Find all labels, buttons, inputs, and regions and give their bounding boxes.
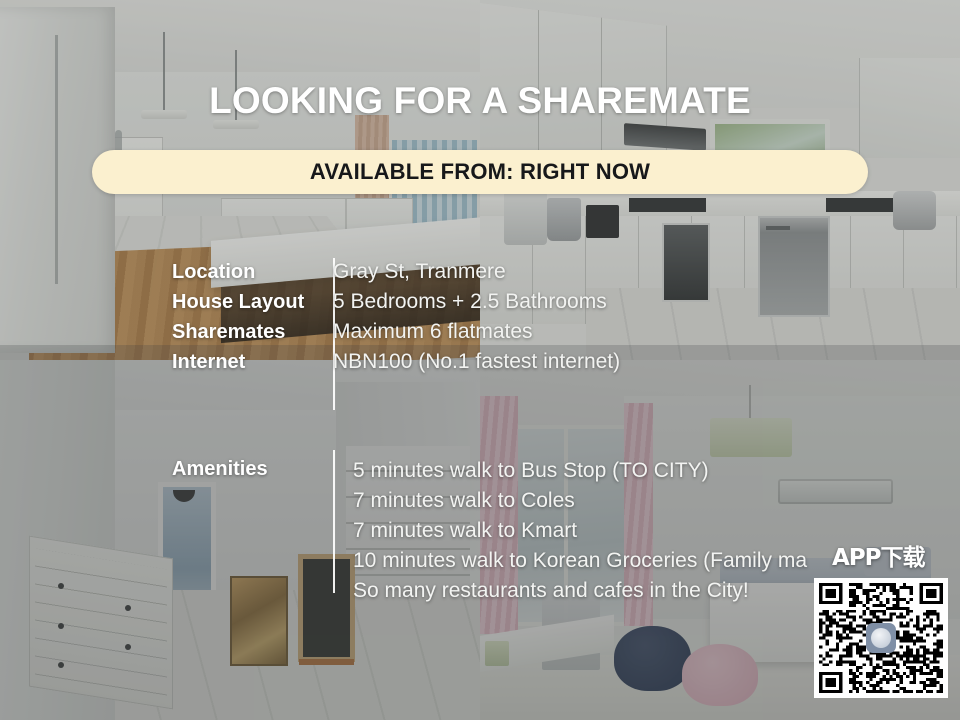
table-row: Location Gray St, Tranmere xyxy=(172,260,620,290)
spec-label-location: Location xyxy=(172,261,333,284)
page-title: LOOKING FOR A SHAREMATE xyxy=(0,80,960,122)
qr-code-image xyxy=(819,583,943,693)
table-row: House Layout 5 Bedrooms + 2.5 Bathrooms xyxy=(172,290,620,320)
text-layer: LOOKING FOR A SHAREMATE AVAILABLE FROM: … xyxy=(0,0,960,720)
list-item: 7 minutes walk to Coles xyxy=(353,486,807,516)
amenities-list: 5 minutes walk to Bus Stop (TO CITY) 7 m… xyxy=(353,456,807,606)
spec-value-sharemates: Maximum 6 flatmates xyxy=(333,320,533,344)
app-download-watermark: APP下载 xyxy=(832,538,925,572)
list-item: 5 minutes walk to Bus Stop (TO CITY) xyxy=(353,456,807,486)
spec-label-house-layout: House Layout xyxy=(172,291,333,314)
qr-center-logo xyxy=(866,623,896,653)
sharemate-flyer: LOOKING FOR A SHAREMATE AVAILABLE FROM: … xyxy=(0,0,960,720)
property-details-table: Location Gray St, Tranmere House Layout … xyxy=(172,260,620,380)
list-item: 10 minutes walk to Korean Groceries (Fam… xyxy=(353,546,807,576)
amenities-label: Amenities xyxy=(172,458,268,481)
amenities-divider xyxy=(333,450,335,593)
spec-value-location: Gray St, Tranmere xyxy=(333,260,506,284)
list-item: 7 minutes walk to Kmart xyxy=(353,516,807,546)
spec-value-internet: NBN100 (No.1 fastest internet) xyxy=(333,350,620,374)
table-row: Internet NBN100 (No.1 fastest internet) xyxy=(172,350,620,380)
availability-banner: AVAILABLE FROM: RIGHT NOW xyxy=(92,150,868,194)
spec-label-internet: Internet xyxy=(172,351,333,374)
list-item: So many restaurants and cafes in the Cit… xyxy=(353,576,807,606)
qr-code[interactable] xyxy=(814,578,948,698)
availability-banner-label: AVAILABLE FROM: RIGHT NOW xyxy=(310,159,650,185)
spec-label-sharemates: Sharemates xyxy=(172,321,333,344)
table-row: Sharemates Maximum 6 flatmates xyxy=(172,320,620,350)
spec-value-house-layout: 5 Bedrooms + 2.5 Bathrooms xyxy=(333,290,607,314)
